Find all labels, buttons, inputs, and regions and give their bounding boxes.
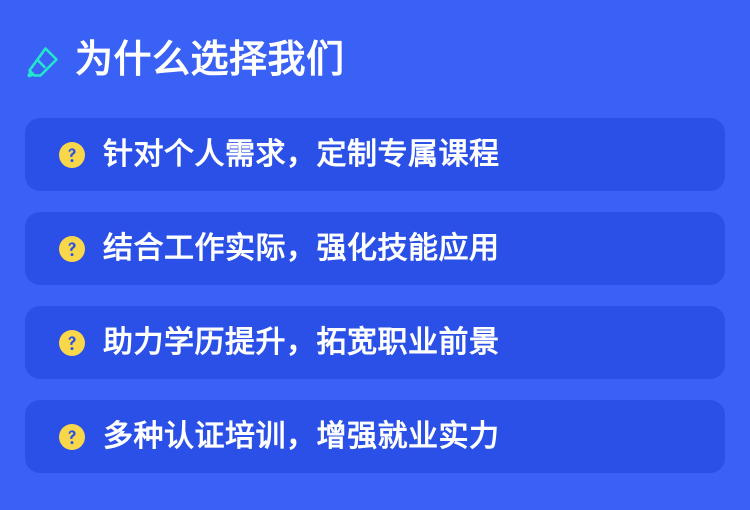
highlighter-pen-icon bbox=[25, 40, 61, 80]
page-title: 为什么选择我们 bbox=[75, 41, 345, 79]
benefit-card-label: 针对个人需求，定制专属课程 bbox=[103, 140, 500, 170]
benefit-card-list: 针对个人需求，定制专属课程 结合工作实际，强化技能应用 助力学历提升，拓 bbox=[25, 118, 725, 473]
benefit-card[interactable]: 针对个人需求，定制专属课程 bbox=[25, 118, 725, 191]
benefit-card-label: 多种认证培训，增强就业实力 bbox=[103, 422, 500, 452]
benefit-card[interactable]: 多种认证培训，增强就业实力 bbox=[25, 400, 725, 473]
benefit-card-label: 结合工作实际，强化技能应用 bbox=[103, 234, 500, 264]
question-mark-circle-icon bbox=[59, 236, 85, 262]
benefit-card[interactable]: 助力学历提升，拓宽职业前景 bbox=[25, 306, 725, 379]
question-mark-circle-icon bbox=[59, 424, 85, 450]
question-mark-circle-icon bbox=[59, 330, 85, 356]
benefit-card-label: 助力学历提升，拓宽职业前景 bbox=[103, 328, 500, 358]
benefit-card[interactable]: 结合工作实际，强化技能应用 bbox=[25, 212, 725, 285]
section-header: 为什么选择我们 bbox=[25, 34, 345, 86]
question-mark-circle-icon bbox=[59, 142, 85, 168]
promo-banner: 为什么选择我们 针对个人需求，定制专属课程 结合工作实际，强化技能应 bbox=[0, 0, 750, 510]
